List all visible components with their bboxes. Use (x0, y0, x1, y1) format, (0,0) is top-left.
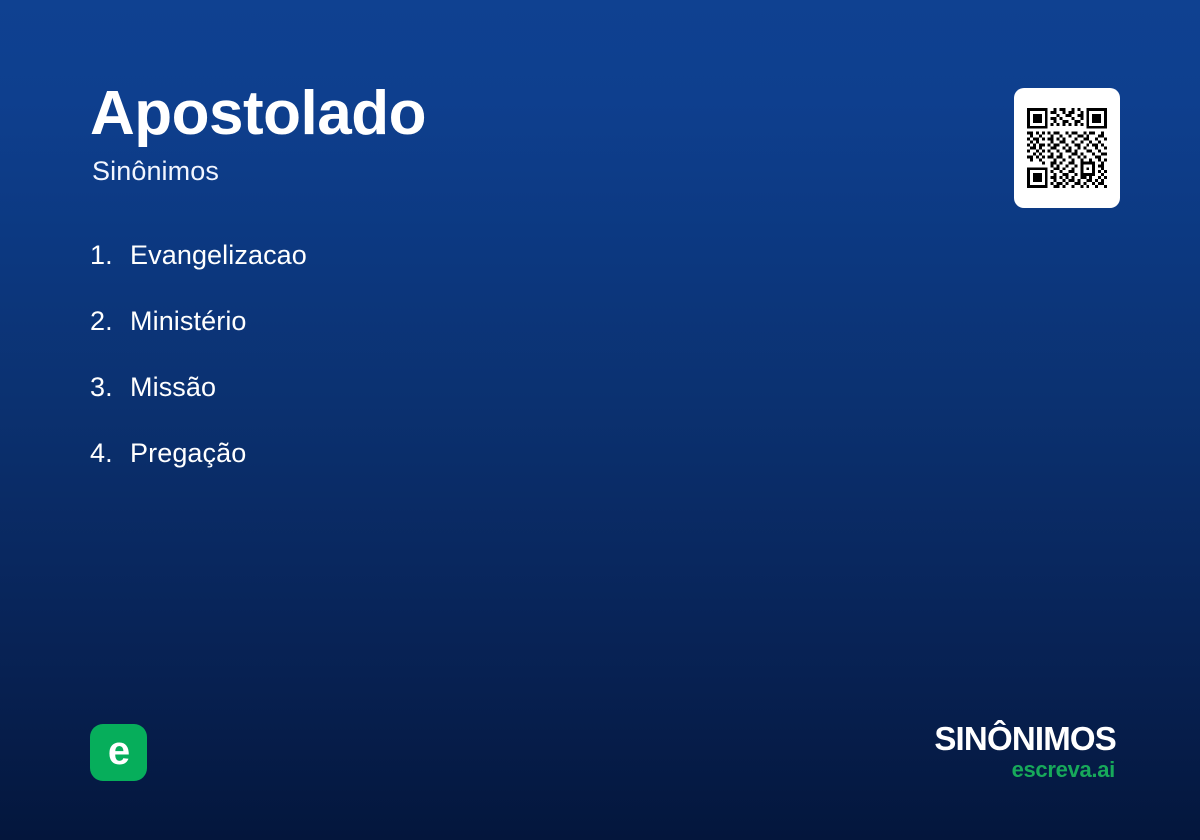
synonym-card: Apostolado Sinônimos 1. Evangelizacao 2.… (0, 0, 1200, 840)
footer-logo[interactable]: SINÔNIMOS escreva.ai (816, 722, 1116, 781)
header-block: Apostolado Sinônimos (90, 82, 910, 187)
footer-logo-secondary: escreva.ai (816, 759, 1115, 781)
qr-code-icon[interactable] (1014, 88, 1120, 208)
list-item: 1. Evangelizacao (90, 238, 850, 304)
list-item-label: Ministério (130, 304, 247, 338)
escreva-e-letter: e (108, 731, 129, 771)
list-item-label: Evangelizacao (130, 238, 307, 272)
page-title: Apostolado (90, 82, 910, 145)
escreva-e-icon[interactable]: e (90, 724, 147, 781)
list-item-index: 1. (90, 238, 130, 272)
list-item: 4. Pregação (90, 436, 850, 502)
list-item-index: 4. (90, 436, 130, 470)
list-item-index: 3. (90, 370, 130, 404)
footer-logo-primary: SINÔNIMOS (816, 722, 1116, 755)
list-item-index: 2. (90, 304, 130, 338)
page-subtitle: Sinônimos (92, 157, 910, 187)
synonyms-list: 1. Evangelizacao 2. Ministério 3. Missão… (90, 238, 850, 502)
list-item: 2. Ministério (90, 304, 850, 370)
list-item: 3. Missão (90, 370, 850, 436)
list-item-label: Pregação (130, 436, 246, 470)
list-item-label: Missão (130, 370, 216, 404)
